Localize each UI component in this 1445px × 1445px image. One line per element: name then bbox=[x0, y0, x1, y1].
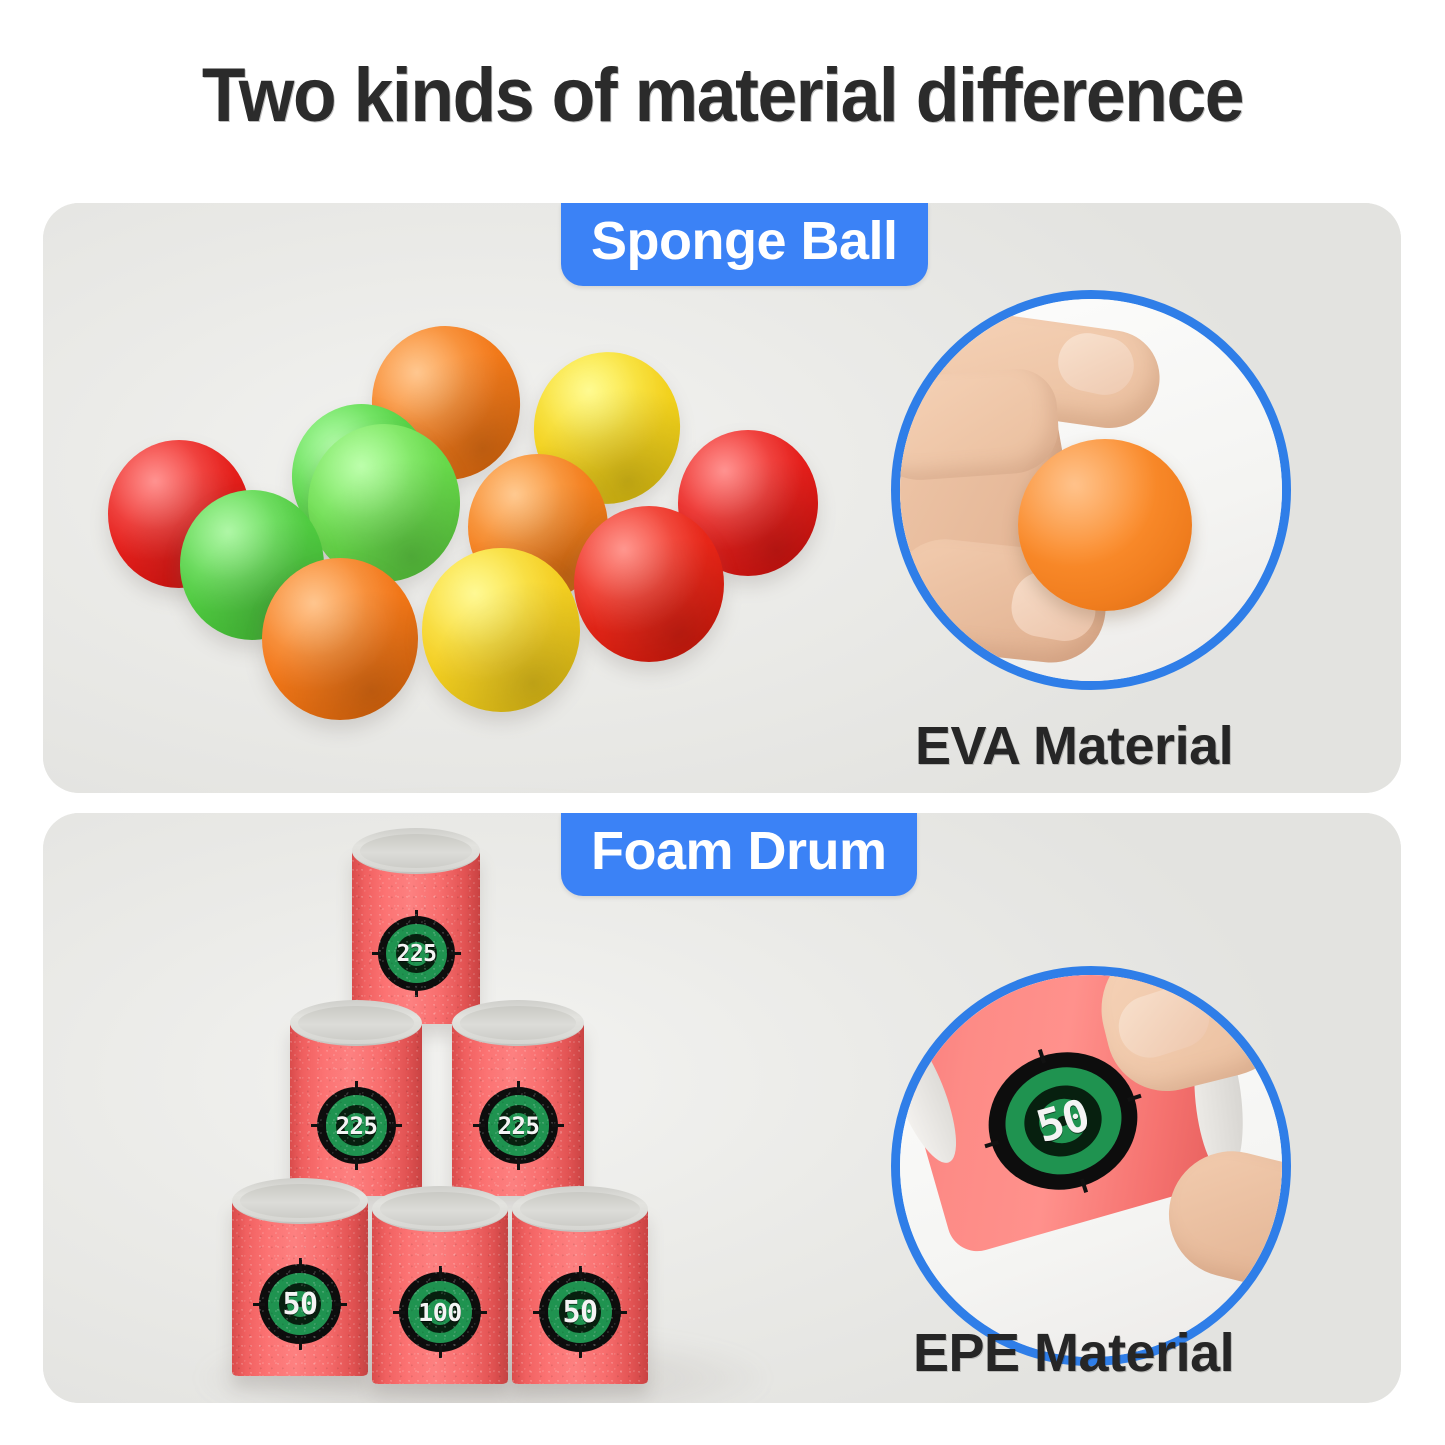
drum-cap-inner bbox=[360, 834, 473, 868]
closeup-circle-eva bbox=[891, 290, 1291, 690]
drum-bottom-left: 50 bbox=[232, 1178, 368, 1376]
ball-yellow-bottom bbox=[422, 548, 580, 712]
target-score: 225 bbox=[396, 941, 436, 967]
drum-body: 225 bbox=[290, 1022, 422, 1196]
badge-sponge-ball: Sponge Ball bbox=[561, 203, 928, 286]
target-sticker: 225 bbox=[317, 1087, 396, 1164]
drum-body: 100 bbox=[372, 1208, 508, 1384]
drum-body: 225 bbox=[452, 1022, 584, 1196]
hand-middle-finger bbox=[891, 366, 1061, 483]
page-title: Two kinds of material difference bbox=[43, 52, 1401, 139]
target-sticker: 50 bbox=[539, 1272, 621, 1352]
target-score: 225 bbox=[336, 1112, 378, 1140]
drum-cap-inner bbox=[520, 1192, 640, 1226]
target-sticker: 225 bbox=[378, 916, 455, 991]
caption-eva-material: EVA Material bbox=[915, 715, 1233, 777]
badge-foam-drum: Foam Drum bbox=[561, 813, 917, 896]
drum-bottom-mid: 100 bbox=[372, 1186, 508, 1384]
drum-mid-right: 225 bbox=[452, 1000, 584, 1196]
drum-body: 50 bbox=[232, 1200, 368, 1376]
target-score: 50 bbox=[282, 1287, 317, 1322]
closeup-orange-ball bbox=[1018, 439, 1192, 611]
closeup-circle-epe: 50 bbox=[891, 966, 1291, 1366]
target-sticker: 225 bbox=[479, 1087, 558, 1164]
drum-cap-inner bbox=[380, 1192, 500, 1226]
caption-epe-material: EPE Material bbox=[913, 1322, 1234, 1384]
ball-red-lower-right bbox=[574, 506, 724, 662]
drum-top: 225 bbox=[352, 828, 480, 1024]
drum-cap-inner bbox=[460, 1006, 576, 1040]
drum-mid-left: 225 bbox=[290, 1000, 422, 1196]
infographic-root: Two kinds of material difference Sponge … bbox=[0, 0, 1445, 1445]
drum-bottom-right: 50 bbox=[512, 1186, 648, 1384]
drum-cap-inner bbox=[298, 1006, 414, 1040]
ball-orange-bottom bbox=[262, 558, 418, 720]
drum-body: 225 bbox=[352, 850, 480, 1024]
target-sticker: 100 bbox=[399, 1272, 481, 1352]
drum-body: 50 bbox=[512, 1208, 648, 1384]
target-score: 100 bbox=[418, 1298, 462, 1327]
target-score: 50 bbox=[562, 1295, 597, 1330]
target-score: 225 bbox=[498, 1112, 540, 1140]
drum-cap-inner bbox=[240, 1184, 360, 1218]
target-sticker: 50 bbox=[259, 1264, 341, 1344]
